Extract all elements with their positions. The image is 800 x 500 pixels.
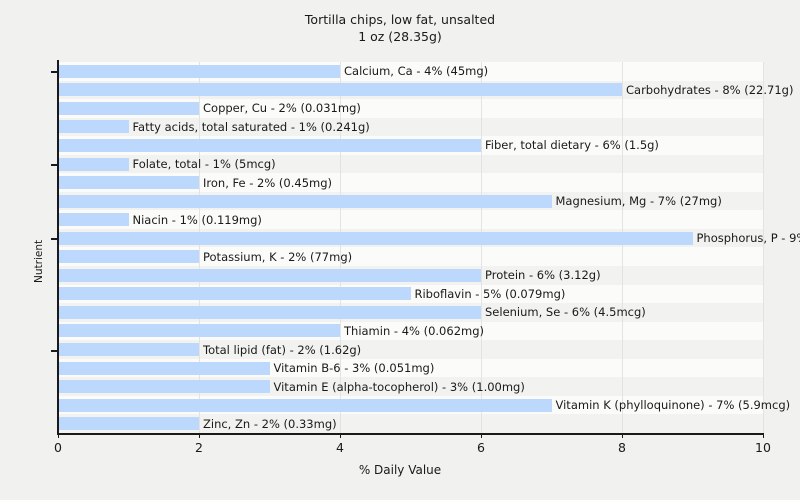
x-axis-tick: [58, 433, 59, 438]
y-axis-tick: [51, 164, 58, 166]
bar-row: Vitamin E (alpha-tocopherol) - 3% (1.00m…: [58, 380, 763, 393]
bar-row: Riboflavin - 5% (0.079mg): [58, 287, 763, 300]
gridline: [763, 62, 764, 433]
bar-value-label: Riboflavin - 5% (0.079mg): [411, 287, 566, 301]
bar[interactable]: [58, 65, 340, 78]
x-axis-tick: [340, 433, 341, 438]
bar[interactable]: [58, 232, 693, 245]
bar-value-label: Calcium, Ca - 4% (45mg): [340, 64, 488, 78]
bar-value-label: Vitamin K (phylloquinone) - 7% (5.9mcg): [552, 398, 791, 412]
bar-row: Zinc, Zn - 2% (0.33mg): [58, 417, 763, 430]
bar[interactable]: [58, 343, 199, 356]
bar-row: Protein - 6% (3.12g): [58, 269, 763, 282]
bar-value-label: Iron, Fe - 2% (0.45mg): [199, 176, 332, 190]
bar-row: Calcium, Ca - 4% (45mg): [58, 65, 763, 78]
y-axis-label: Nutrient: [33, 269, 45, 283]
nutrition-bar-chart-figure: Tortilla chips, low fat, unsalted 1 oz (…: [0, 0, 800, 500]
bar[interactable]: [58, 306, 481, 319]
x-axis-label: % Daily Value: [0, 463, 800, 477]
gridline: [199, 62, 200, 433]
title-block: Tortilla chips, low fat, unsalted 1 oz (…: [0, 11, 800, 45]
x-axis-tick-label: 6: [461, 440, 501, 455]
bar-value-label: Potassium, K - 2% (77mg): [199, 250, 352, 264]
bar[interactable]: [58, 139, 481, 152]
x-axis-tick: [622, 433, 623, 438]
bar-row: Magnesium, Mg - 7% (27mg): [58, 195, 763, 208]
y-axis-tick: [51, 71, 58, 73]
bar[interactable]: [58, 158, 129, 171]
bar-value-label: Vitamin E (alpha-tocopherol) - 3% (1.00m…: [270, 380, 525, 394]
bar-row: Phosphorus, P - 9% (90mg): [58, 232, 763, 245]
bar[interactable]: [58, 83, 622, 96]
bar-row: Fiber, total dietary - 6% (1.5g): [58, 139, 763, 152]
x-axis-tick: [199, 433, 200, 438]
plot-area: Calcium, Ca - 4% (45mg)Carbohydrates - 8…: [58, 62, 763, 433]
bar-value-label: Magnesium, Mg - 7% (27mg): [552, 194, 722, 208]
bar-row: Thiamin - 4% (0.062mg): [58, 324, 763, 337]
bar-row: Selenium, Se - 6% (4.5mcg): [58, 306, 763, 319]
bar-value-label: Vitamin B-6 - 3% (0.051mg): [270, 361, 435, 375]
bar-row: Fatty acids, total saturated - 1% (0.241…: [58, 120, 763, 133]
x-axis-tick: [763, 433, 764, 438]
bar-value-label: Fatty acids, total saturated - 1% (0.241…: [129, 120, 370, 134]
bar-row: Iron, Fe - 2% (0.45mg): [58, 176, 763, 189]
bar-row: Total lipid (fat) - 2% (1.62g): [58, 343, 763, 356]
bar-value-label: Protein - 6% (3.12g): [481, 268, 601, 282]
bar[interactable]: [58, 176, 199, 189]
bar-value-label: Carbohydrates - 8% (22.71g): [622, 83, 793, 97]
bar-value-label: Zinc, Zn - 2% (0.33mg): [199, 417, 337, 431]
bar[interactable]: [58, 102, 199, 115]
bar[interactable]: [58, 250, 199, 263]
bar-value-label: Copper, Cu - 2% (0.031mg): [199, 101, 361, 115]
bar-value-label: Phosphorus, P - 9% (90mg): [693, 231, 800, 245]
gridline: [340, 62, 341, 433]
y-axis-line: [57, 60, 59, 435]
bar-row: Potassium, K - 2% (77mg): [58, 250, 763, 263]
bar-row: Carbohydrates - 8% (22.71g): [58, 83, 763, 96]
x-axis-line: [57, 433, 764, 435]
bar[interactable]: [58, 287, 411, 300]
bar-row: Niacin - 1% (0.119mg): [58, 213, 763, 226]
bar[interactable]: [58, 324, 340, 337]
bar[interactable]: [58, 399, 552, 412]
chart-subtitle: 1 oz (28.35g): [0, 28, 800, 45]
x-axis-tick-label: 4: [320, 440, 360, 455]
bar[interactable]: [58, 213, 129, 226]
bar[interactable]: [58, 362, 270, 375]
bar-value-label: Fiber, total dietary - 6% (1.5g): [481, 138, 659, 152]
bar[interactable]: [58, 269, 481, 282]
bar[interactable]: [58, 120, 129, 133]
bar-value-label: Thiamin - 4% (0.062mg): [340, 324, 484, 338]
x-axis-tick-label: 8: [602, 440, 642, 455]
gridlines: [58, 62, 763, 433]
bar[interactable]: [58, 380, 270, 393]
bar-value-label: Niacin - 1% (0.119mg): [129, 213, 262, 227]
bar[interactable]: [58, 195, 552, 208]
bar-value-label: Selenium, Se - 6% (4.5mcg): [481, 305, 646, 319]
x-axis-tick: [481, 433, 482, 438]
x-axis-tick-label: 0: [38, 440, 78, 455]
bar-row: Vitamin B-6 - 3% (0.051mg): [58, 362, 763, 375]
bar[interactable]: [58, 417, 199, 430]
bar-value-label: Folate, total - 1% (5mcg): [129, 157, 276, 171]
bar-row: Copper, Cu - 2% (0.031mg): [58, 102, 763, 115]
bar-row: Vitamin K (phylloquinone) - 7% (5.9mcg): [58, 399, 763, 412]
gridline: [622, 62, 623, 433]
y-axis-tick: [51, 350, 58, 352]
x-axis-tick-label: 2: [179, 440, 219, 455]
y-axis-tick: [51, 238, 58, 240]
gridline: [481, 62, 482, 433]
bar-row: Folate, total - 1% (5mcg): [58, 158, 763, 171]
bar-value-label: Total lipid (fat) - 2% (1.62g): [199, 343, 361, 357]
x-axis-tick-label: 10: [743, 440, 783, 455]
chart-title: Tortilla chips, low fat, unsalted: [0, 11, 800, 28]
